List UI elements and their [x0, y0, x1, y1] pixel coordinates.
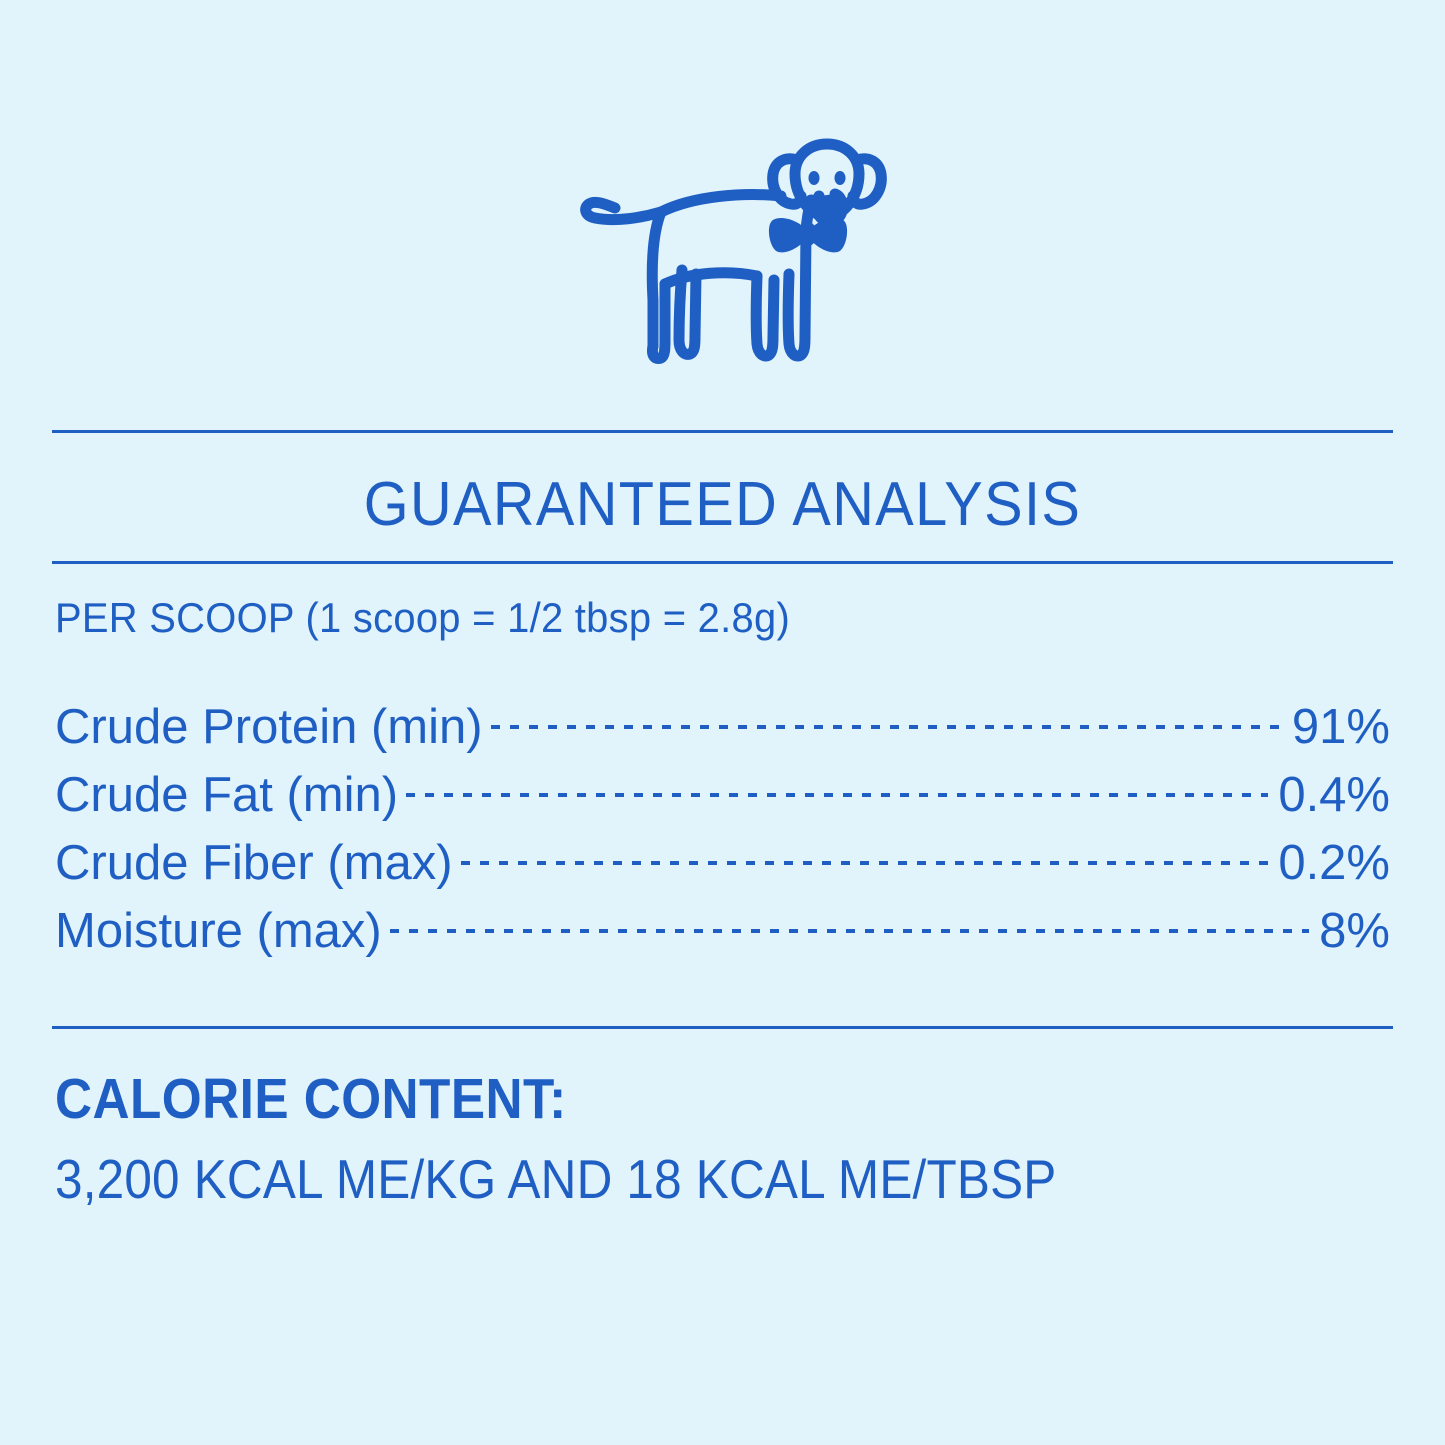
divider-bottom: [52, 1026, 1393, 1029]
nutrient-label: Moisture (max): [55, 897, 382, 965]
dot-leader: [491, 675, 1282, 743]
nutrient-label: Crude Fat (min): [55, 761, 398, 829]
calorie-content-heading: CALORIE CONTENT:: [55, 1062, 567, 1136]
divider-middle: [52, 561, 1393, 564]
guaranteed-analysis-panel: GUARANTEED ANALYSIS PER SCOOP (1 scoop =…: [0, 0, 1445, 1445]
nutrient-value: 8%: [1319, 897, 1390, 965]
table-row: Crude Protein (min) 91%: [55, 675, 1390, 743]
analysis-table: Crude Protein (min) 91% Crude Fat (min) …: [55, 675, 1390, 947]
calorie-content-value: 3,200 KCAL ME/KG AND 18 KCAL ME/TBSP: [55, 1143, 1056, 1215]
dot-leader: [390, 879, 1309, 947]
dot-leader: [461, 811, 1269, 879]
brand-logo: [0, 118, 1445, 410]
dog-with-bowtie-icon: [543, 134, 903, 394]
serving-size-line: PER SCOOP (1 scoop = 1/2 tbsp = 2.8g): [55, 590, 790, 646]
page-title: GUARANTEED ANALYSIS: [51, 455, 1395, 555]
divider-top: [52, 430, 1393, 433]
nutrient-value: 91%: [1292, 693, 1390, 761]
nutrient-value: 0.4%: [1278, 761, 1390, 829]
dot-leader: [406, 743, 1268, 811]
